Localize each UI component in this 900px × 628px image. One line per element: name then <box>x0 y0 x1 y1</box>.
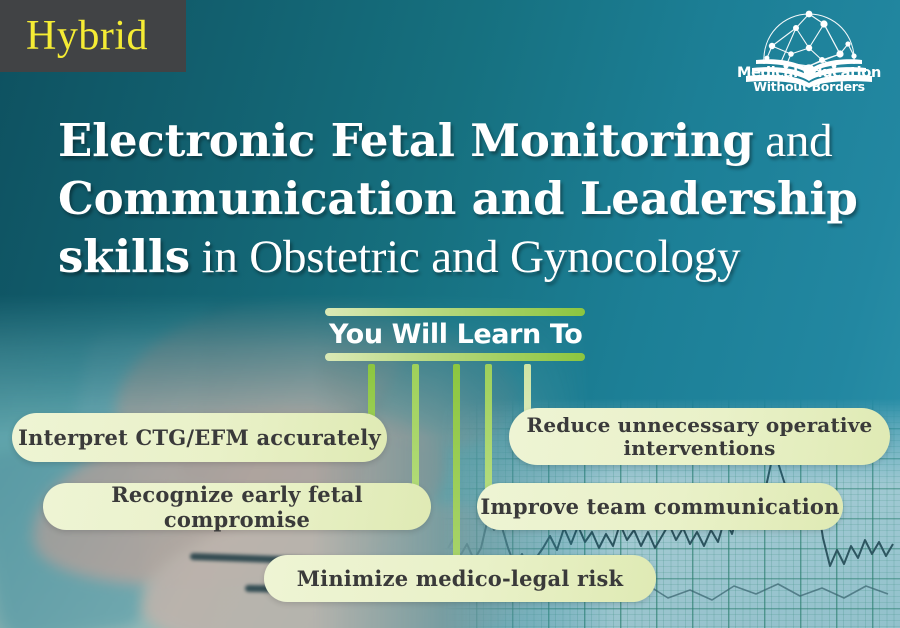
logo-line-2: Without Borders <box>736 81 882 94</box>
learn-item-minimize-medico-legal-risk: Minimize medico-legal risk <box>264 555 656 602</box>
learn-item-recognize-fetal-compromise: Recognize early fetal compromise <box>43 483 431 530</box>
title-part-2: and <box>754 115 833 167</box>
learn-item-label: Interpret CTG/EFM accurately <box>18 425 381 450</box>
learn-item-label: Recognize early fetal compromise <box>43 482 431 532</box>
learn-item-improve-team-communication: Improve team communication <box>477 483 843 530</box>
hybrid-badge-label: Hybrid <box>26 15 148 57</box>
poster-canvas: Hybrid Medical Educ <box>0 0 900 628</box>
logo-wordmark: Medical Education Without Borders <box>736 66 882 94</box>
title-part-3: Communication and Leadership <box>58 172 858 225</box>
learn-item-label: Reduce unnecessary operative interventio… <box>525 414 874 460</box>
learn-item-label: Minimize medico-legal risk <box>297 566 624 591</box>
learn-header-bottom-rule <box>325 353 585 361</box>
connector-line-3 <box>453 364 460 579</box>
learn-item-interpret-ctg-efm: Interpret CTG/EFM accurately <box>12 413 387 462</box>
learn-section-heading: You Will Learn To <box>329 319 585 350</box>
title-part-5: in Obstetric and Gynocology <box>190 231 740 283</box>
learn-item-reduce-operative-interventions: Reduce unnecessary operative interventio… <box>509 408 890 465</box>
title-part-4: skills <box>58 230 190 283</box>
learn-header-top-rule <box>325 308 585 316</box>
hybrid-badge: Hybrid <box>0 0 186 72</box>
learn-item-label: Improve team communication <box>480 494 839 519</box>
organization-logo: Medical Education Without Borders <box>736 4 882 108</box>
title-part-1: Electronic Fetal Monitoring <box>58 114 754 167</box>
page-title: Electronic Fetal Monitoring and Communic… <box>58 112 858 286</box>
learn-section-header: You Will Learn To <box>325 308 585 361</box>
